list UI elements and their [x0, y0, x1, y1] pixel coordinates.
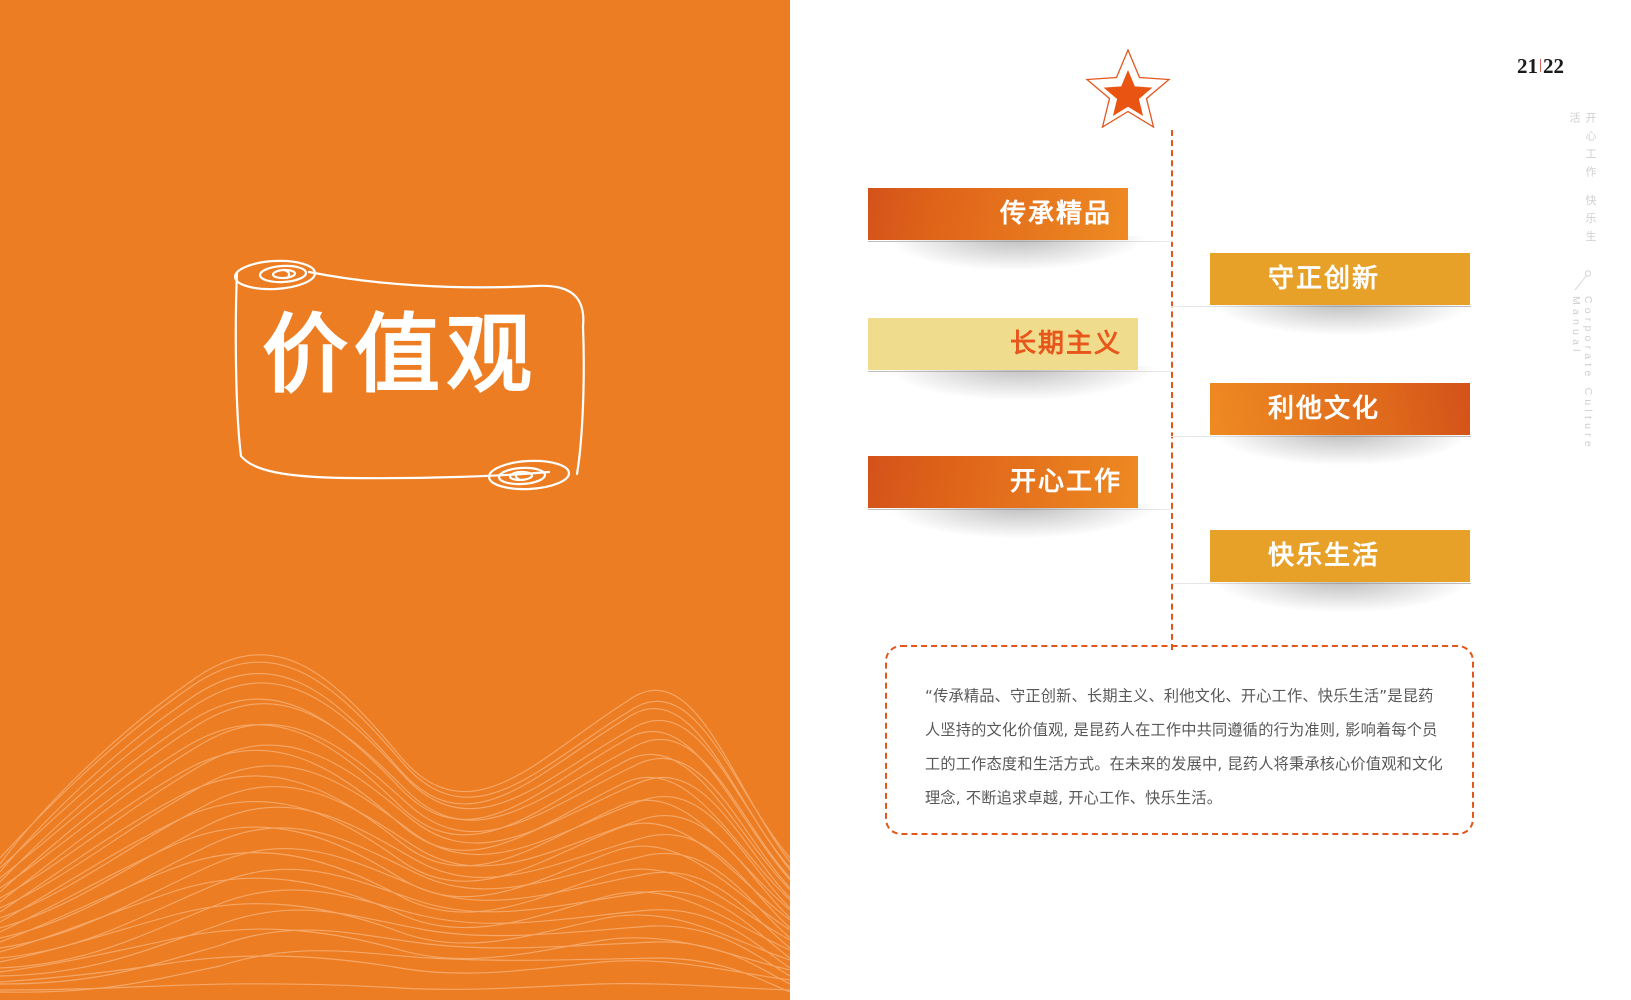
value-banner-kaixingongzuo[interactable]: 开心工作	[868, 456, 1138, 508]
right-content-panel: 21|22 开心工作 快乐生活 Corporate Culture Manual	[790, 0, 1631, 1000]
page-title: 价值观	[205, 312, 595, 398]
value-banner-label: 开心工作	[868, 469, 1138, 495]
value-banner-shouzhengchuangxin[interactable]: 守正创新	[1210, 253, 1470, 305]
scroll-banner: 价值观	[205, 228, 595, 503]
page-number-separator: |	[1538, 57, 1543, 73]
value-banner-label: 长期主义	[868, 331, 1138, 357]
value-banner-kuaileshenghuo[interactable]: 快乐生活	[1210, 530, 1470, 582]
value-banner-label: 传承精品	[868, 201, 1128, 227]
connector-line-5	[868, 509, 1173, 510]
connector-line-2	[1171, 306, 1471, 307]
values-spread-page: 价值观 21|22 开心工作 快乐生活 Corporate Culture Ma…	[0, 0, 1631, 1000]
value-banner-label: 守正创新	[1210, 266, 1470, 292]
value-banner-changqizhuyi[interactable]: 长期主义	[868, 318, 1138, 370]
slash-divider-icon	[1573, 270, 1591, 292]
side-rail: 开心工作 快乐生活 Corporate Culture Manual	[1569, 112, 1595, 512]
connector-line-6	[1171, 583, 1471, 584]
page-number: 21|22	[1517, 54, 1564, 79]
value-banner-label: 快乐生活	[1210, 543, 1470, 569]
side-rail-cn-text: 开心工作 快乐生活	[1566, 112, 1598, 262]
value-banner-litawenhua[interactable]: 利他文化	[1210, 383, 1470, 435]
connector-line-1	[868, 241, 1173, 242]
connector-line-3	[868, 371, 1173, 372]
mountain-wave-decoration	[0, 620, 790, 1000]
page-number-current: 21	[1517, 54, 1538, 78]
values-description-text: “传承精品、守正创新、长期主义、利他文化、开心工作、快乐生活”是昆药人坚持的文化…	[925, 679, 1445, 815]
value-banner-chuanchengjingpin[interactable]: 传承精品	[868, 188, 1128, 240]
timeline-spine	[1171, 130, 1173, 650]
star-icon	[1080, 44, 1176, 140]
connector-line-4	[1171, 436, 1471, 437]
side-rail-en-text: Corporate Culture Manual	[1570, 296, 1594, 512]
value-banner-label: 利他文化	[1210, 396, 1470, 422]
values-description-callout: “传承精品、守正创新、长期主义、利他文化、开心工作、快乐生活”是昆药人坚持的文化…	[885, 645, 1474, 835]
page-number-next: 22	[1543, 54, 1564, 78]
left-cover-panel: 价值观	[0, 0, 790, 1000]
